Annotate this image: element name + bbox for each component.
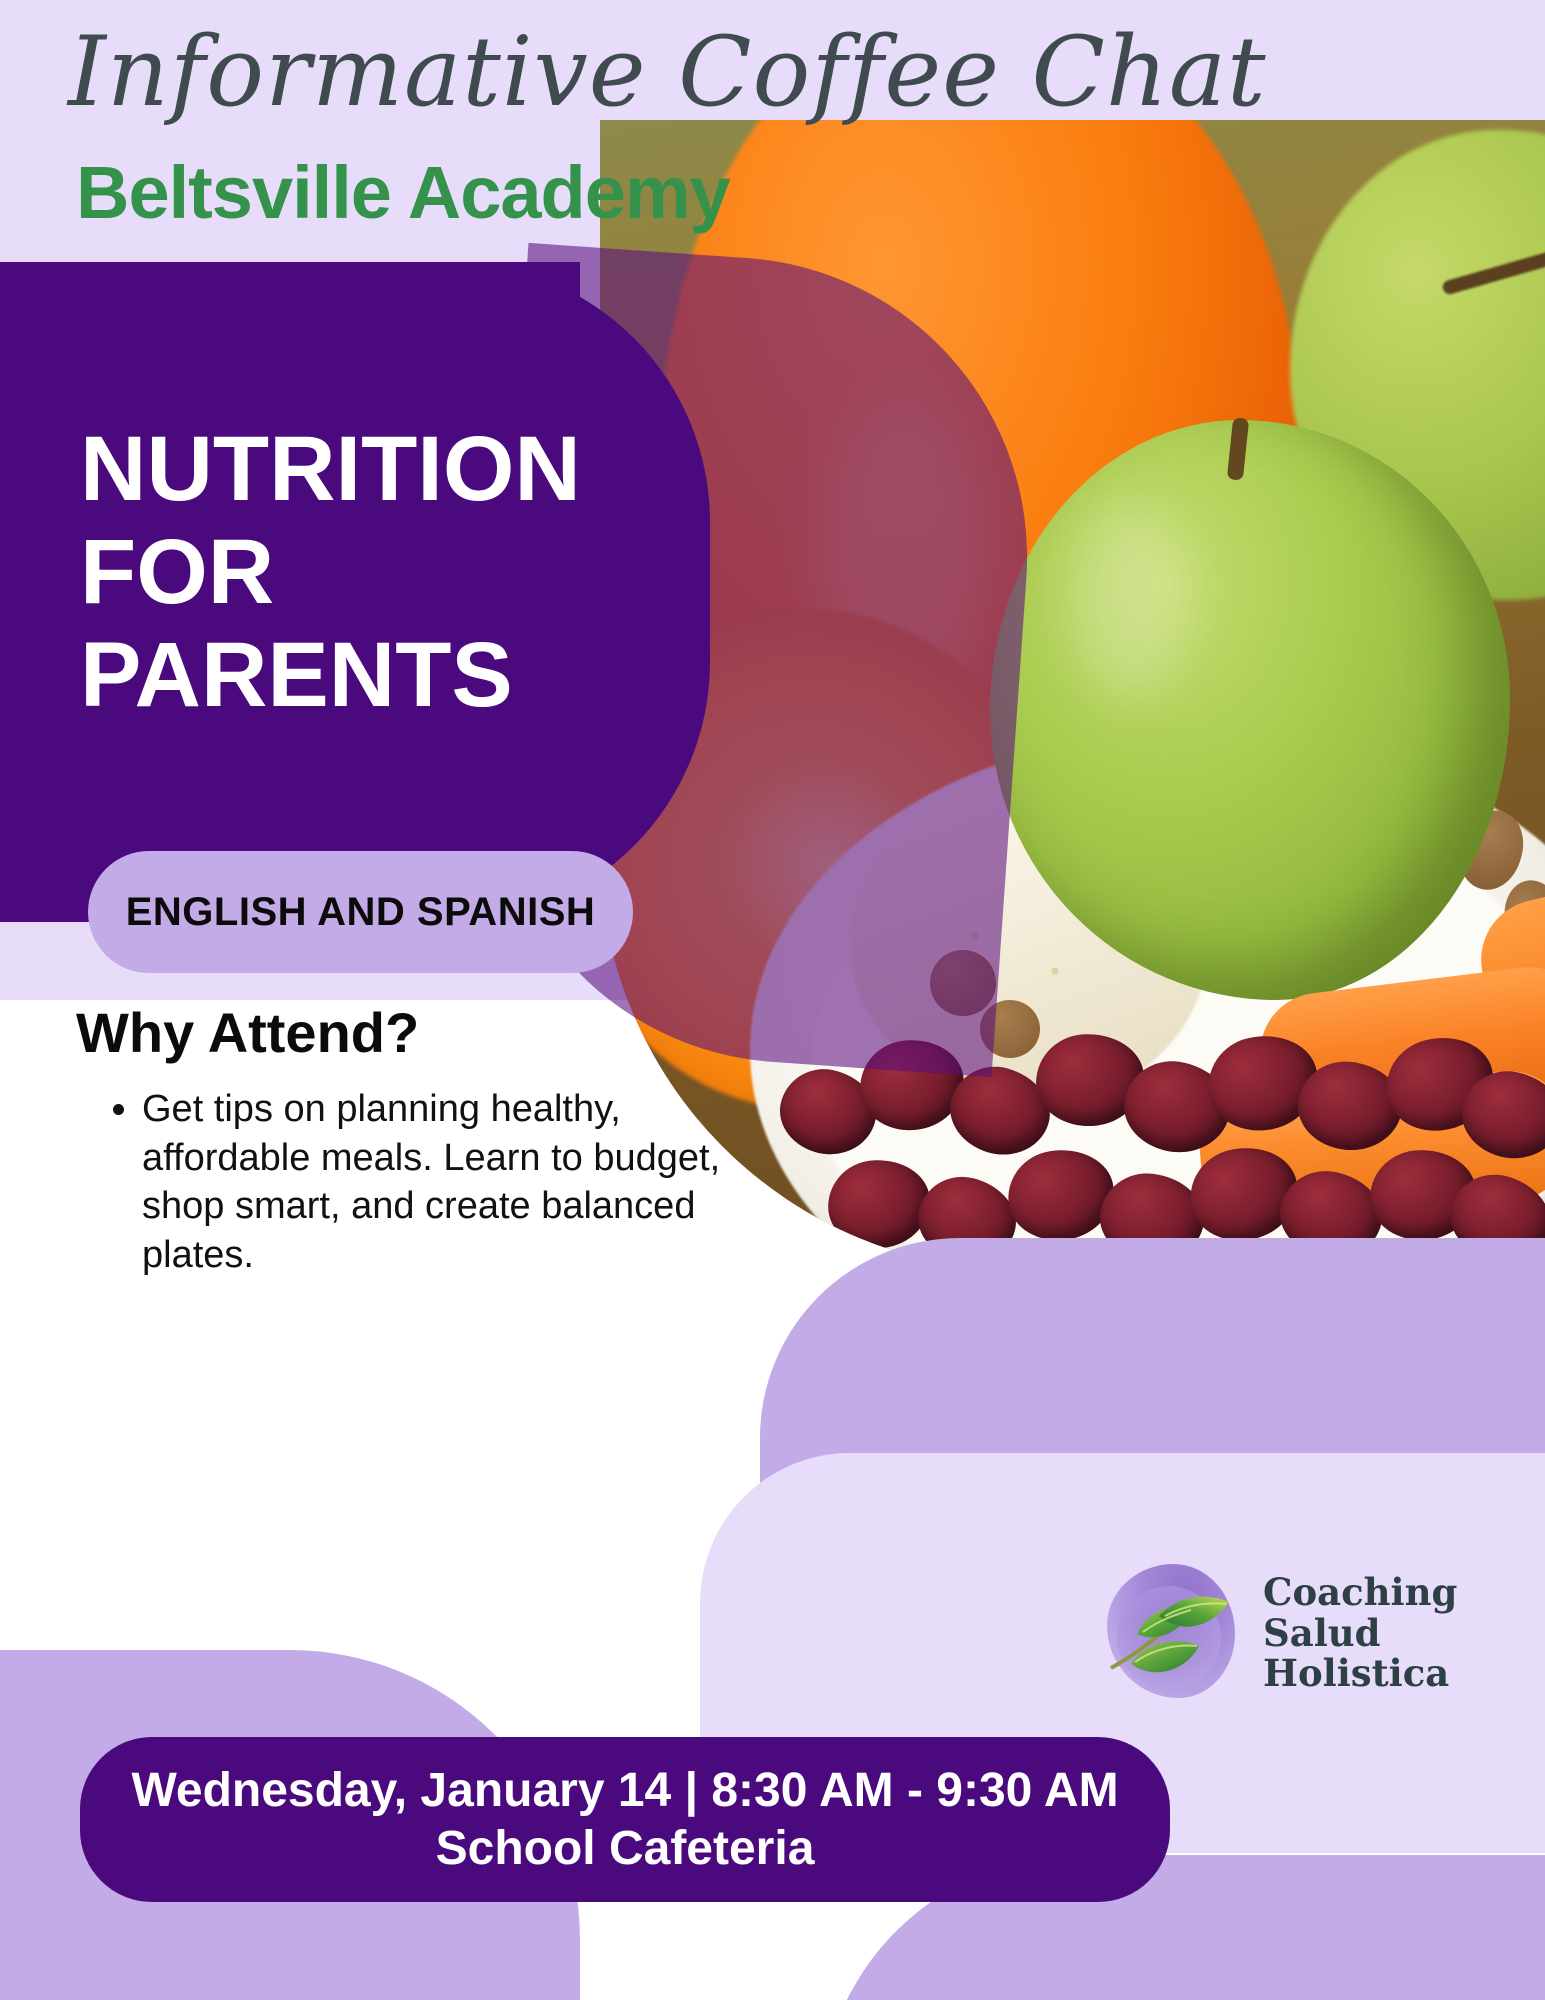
event-date-time: Wednesday, January 14 | 8:30 AM - 9:30 A… [131,1762,1118,1820]
coaching-salud-holistica-logo: Coaching Salud Holistica [1095,1538,1485,1728]
why-attend-heading: Why Attend? [76,1000,419,1065]
leaf-icon [1095,1556,1245,1711]
photo-cranberry [824,1155,935,1253]
logo-line-3: Holistica [1263,1653,1457,1694]
school-name: Beltsville Academy [76,150,730,235]
list-item: Get tips on planning healthy, affordable… [142,1085,742,1280]
language-badge-label: ENGLISH AND SPANISH [126,890,596,935]
page-title-script: Informative Coffee Chat [68,22,1188,123]
logo-wordmark: Coaching Salud Holistica [1263,1572,1457,1694]
event-location: School Cafeteria [436,1820,815,1878]
language-badge: ENGLISH AND SPANISH [88,851,633,973]
event-details-banner: Wednesday, January 14 | 8:30 AM - 9:30 A… [80,1737,1170,1902]
photo-green-apple-shine [1070,500,1190,700]
headline-line-3: PARENTS [80,624,640,727]
headline-line-1: NUTRITION [80,418,640,521]
flyer-canvas: Informative Coffee Chat Beltsville Acade… [0,0,1545,2000]
headline: NUTRITION FOR PARENTS [80,418,640,727]
leaf-watercolor-logo-icon [1095,1556,1245,1711]
logo-line-2: Salud [1263,1613,1457,1654]
why-attend-bullet-list: Get tips on planning healthy, affordable… [96,1085,742,1280]
logo-line-1: Coaching [1263,1572,1457,1613]
headline-line-2: FOR [80,521,640,624]
